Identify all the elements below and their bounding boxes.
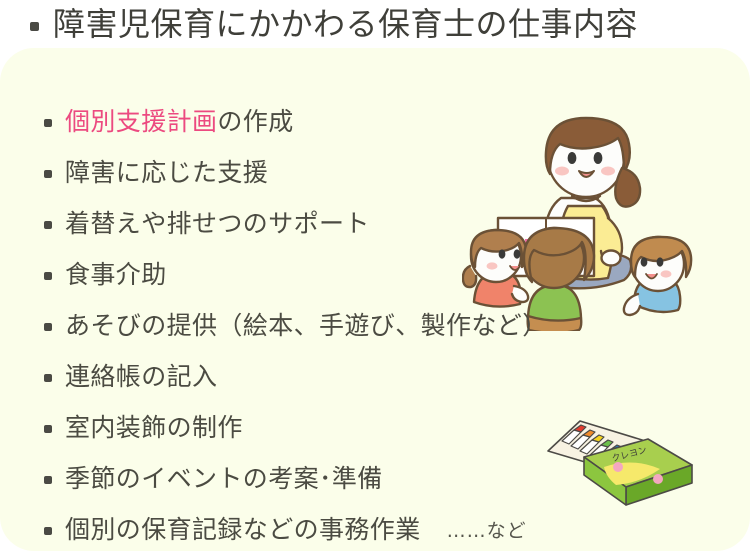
list-item-label: 個別の保育記録などの事務作業 <box>65 517 421 542</box>
list-item-label: 着替えや排せつのサポート <box>65 211 370 236</box>
list-item: 季節のイベントの考案･準備 <box>0 453 700 504</box>
square-bullet-icon <box>44 527 52 535</box>
list-item: 室内装飾の制作 <box>0 402 700 453</box>
list-item-label: 室内装飾の制作 <box>65 415 243 440</box>
square-bullet-icon <box>44 323 52 331</box>
list-item-label: 食事介助 <box>65 262 167 287</box>
square-bullet-icon <box>44 170 52 178</box>
list-item: 連絡帳の記入 <box>0 351 700 402</box>
list-item: 個別の保育記録などの事務作業 ……など <box>0 504 700 551</box>
square-bullet-icon <box>44 272 52 280</box>
list-item: 個別支援計画の作成 <box>0 96 700 147</box>
list-item-label: 個別支援計画の作成 <box>65 109 294 134</box>
list-item: 障害に応じた支援 <box>0 147 700 198</box>
square-bullet-icon <box>44 119 52 127</box>
list-item-label: 季節のイベントの考案･準備 <box>65 466 383 491</box>
square-bullet-icon <box>30 22 39 31</box>
list-item-label: 障害に応じた支援 <box>65 160 268 185</box>
list-item: 食事介助 <box>0 249 700 300</box>
square-bullet-icon <box>44 374 52 382</box>
square-bullet-icon <box>44 425 52 433</box>
page-title: 障害児保育にかかわる保育士の仕事内容 <box>53 8 638 40</box>
list-item-label: 連絡帳の記入 <box>65 364 217 389</box>
list-item: あそびの提供（絵本、手遊び、製作など） <box>0 300 700 351</box>
content-card: クレヨン 個別支援計画の作成 障害に応じた支援 着替えや排せつのサポート 食事介… <box>0 48 750 551</box>
list-item: 着替えや排せつのサポート <box>0 198 700 249</box>
square-bullet-icon <box>44 476 52 484</box>
list-tail-note: ……など <box>447 516 527 543</box>
highlighted-term: 個別支援計画 <box>65 107 217 136</box>
square-bullet-icon <box>44 221 52 229</box>
list-item-label: あそびの提供（絵本、手遊び、製作など） <box>65 313 548 338</box>
task-list: 個別支援計画の作成 障害に応じた支援 着替えや排せつのサポート 食事介助 あそび… <box>0 96 700 551</box>
page-title-row: 障害児保育にかかわる保育士の仕事内容 <box>0 0 750 48</box>
list-item-rest: の作成 <box>217 107 293 136</box>
